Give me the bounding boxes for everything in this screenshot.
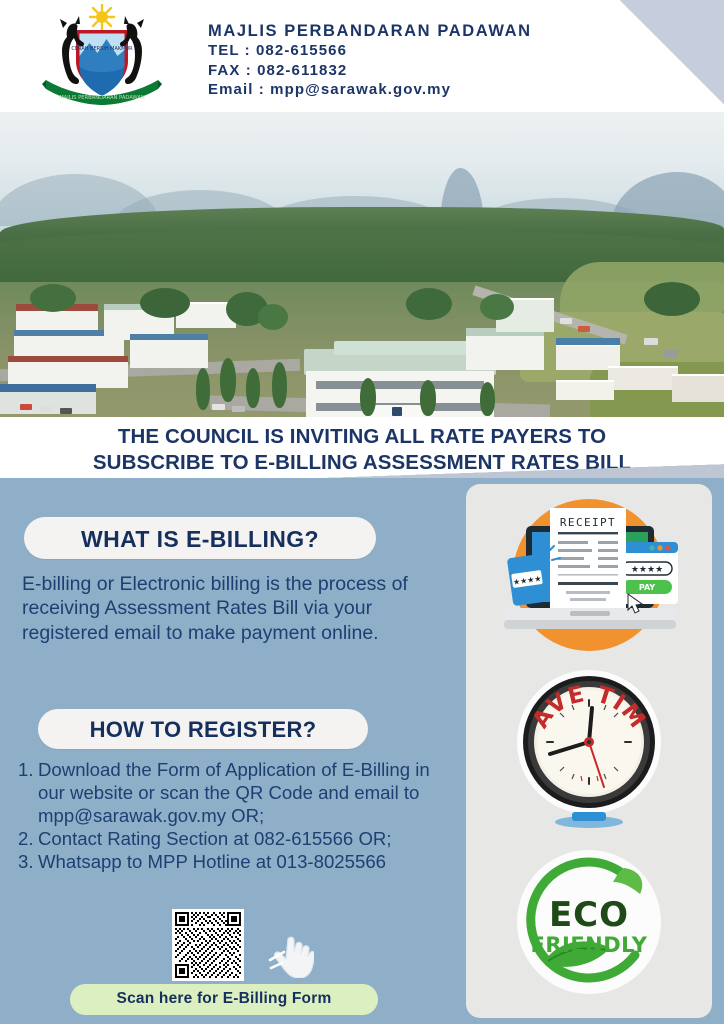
photo-car <box>40 406 52 412</box>
save-time-clock-illustration: SAVE TIME <box>466 664 712 840</box>
header-tel: TEL : 082-615566 <box>208 41 532 61</box>
photo-tree <box>30 284 76 312</box>
eco-line-1: ECO <box>549 895 629 935</box>
header-email: Email : mpp@sarawak.gov.my <box>208 80 532 100</box>
step-number: 3. <box>18 850 38 873</box>
photo-building <box>466 334 544 370</box>
step-number: 1. <box>18 758 38 781</box>
card-dots: ★★★★ <box>631 565 663 575</box>
what-is-ebilling-body: E-billing or Electronic billing is the p… <box>22 572 442 645</box>
photo-building-roof <box>0 384 96 392</box>
mpp-coat-of-arms-logo: CERAH BERSIH MAKMUR MAJLIS PERBANDARAN P… <box>34 3 170 107</box>
how-to-register-heading-pill: HOW TO REGISTER? <box>38 709 368 749</box>
what-is-ebilling-heading-pill: WHAT IS E-BILLING? <box>24 517 376 559</box>
photo-tree <box>406 288 452 320</box>
photo-building <box>130 338 208 368</box>
registration-steps-list: 1. Download the Form of Application of E… <box>18 758 448 873</box>
photo-palm-tree <box>272 362 287 408</box>
how-to-register-heading: HOW TO REGISTER? <box>38 717 368 743</box>
svg-text:CERAH BERSIH MAKMUR: CERAH BERSIH MAKMUR <box>71 46 133 52</box>
scan-button-label: Scan here for E-Billing Form <box>70 990 378 1008</box>
page-header: CERAH BERSIH MAKMUR MAJLIS PERBANDARAN P… <box>0 0 724 112</box>
photo-building-roof <box>556 338 620 345</box>
photo-car <box>560 318 572 324</box>
photo-tree <box>480 294 514 320</box>
list-item: 2. Contact Rating Section at 082-615566 … <box>18 827 448 850</box>
photo-car <box>578 326 590 332</box>
pointing-hand-cursor-icon <box>268 930 314 978</box>
photo-car <box>644 338 658 345</box>
banner-diagonal-accent <box>178 461 724 479</box>
photo-building-roof <box>130 334 208 340</box>
header-corner-decoration <box>620 0 724 104</box>
step-text: Whatsapp to MPP Hotline at 013-8025566 <box>38 850 448 873</box>
photo-car <box>20 404 32 410</box>
photo-palm-tree <box>220 358 236 402</box>
poster-root: CERAH BERSIH MAKMUR MAJLIS PERBANDARAN P… <box>0 0 724 1024</box>
receipt-title: RECEIPT <box>560 516 616 529</box>
photo-palm-tree <box>480 382 495 416</box>
photo-car <box>60 408 72 414</box>
photo-building <box>672 374 724 402</box>
step-text: Download the Form of Application of E-Bi… <box>38 758 448 827</box>
council-name: MAJLIS PERBANDARAN PADAWAN <box>208 22 532 41</box>
photo-car <box>212 404 225 410</box>
photo-palm-tree <box>360 378 376 416</box>
step-text: Contact Rating Section at 082-615566 OR; <box>38 827 448 850</box>
eco-friendly-badge-illustration: ECO FRIENDLY <box>466 842 712 1014</box>
qr-code[interactable] <box>172 909 244 981</box>
photo-palm-tree <box>246 368 260 408</box>
photo-building-roof <box>8 356 128 362</box>
photo-car <box>232 406 245 412</box>
photo-tree <box>258 304 288 330</box>
svg-text:MAJLIS PERBANDARAN PADAWAN: MAJLIS PERBANDARAN PADAWAN <box>59 95 145 101</box>
what-is-ebilling-heading: WHAT IS E-BILLING? <box>24 526 376 553</box>
hero-aerial-photo <box>0 112 724 417</box>
banner-line-1: THE COUNCIL IS INVITING ALL RATE PAYERS … <box>0 424 724 450</box>
photo-tree <box>644 282 700 316</box>
online-payment-receipt-illustration: ★★★★ PAY RECEIPT ★★★★ <box>466 490 712 660</box>
eco-line-2: FRIENDLY <box>531 933 648 957</box>
photo-building <box>608 366 678 390</box>
list-item: 3. Whatsapp to MPP Hotline at 013-802556… <box>18 850 448 873</box>
illustration-panel: ★★★★ PAY RECEIPT ★★★★ <box>466 484 712 1018</box>
header-fax: FAX : 082-611832 <box>208 61 532 81</box>
announcement-banner: THE COUNCIL IS INVITING ALL RATE PAYERS … <box>0 417 724 479</box>
header-contact-block: MAJLIS PERBANDARAN PADAWAN TEL : 082-615… <box>208 22 532 100</box>
pay-label: PAY <box>639 583 656 592</box>
list-item: 1. Download the Form of Application of E… <box>18 758 448 827</box>
scan-here-button[interactable]: Scan here for E-Billing Form <box>70 984 378 1015</box>
photo-tree <box>140 288 190 318</box>
photo-palm-tree <box>196 368 210 410</box>
photo-building <box>556 380 614 400</box>
photo-car <box>664 350 678 357</box>
photo-palm-tree <box>420 380 436 416</box>
step-number: 2. <box>18 827 38 850</box>
